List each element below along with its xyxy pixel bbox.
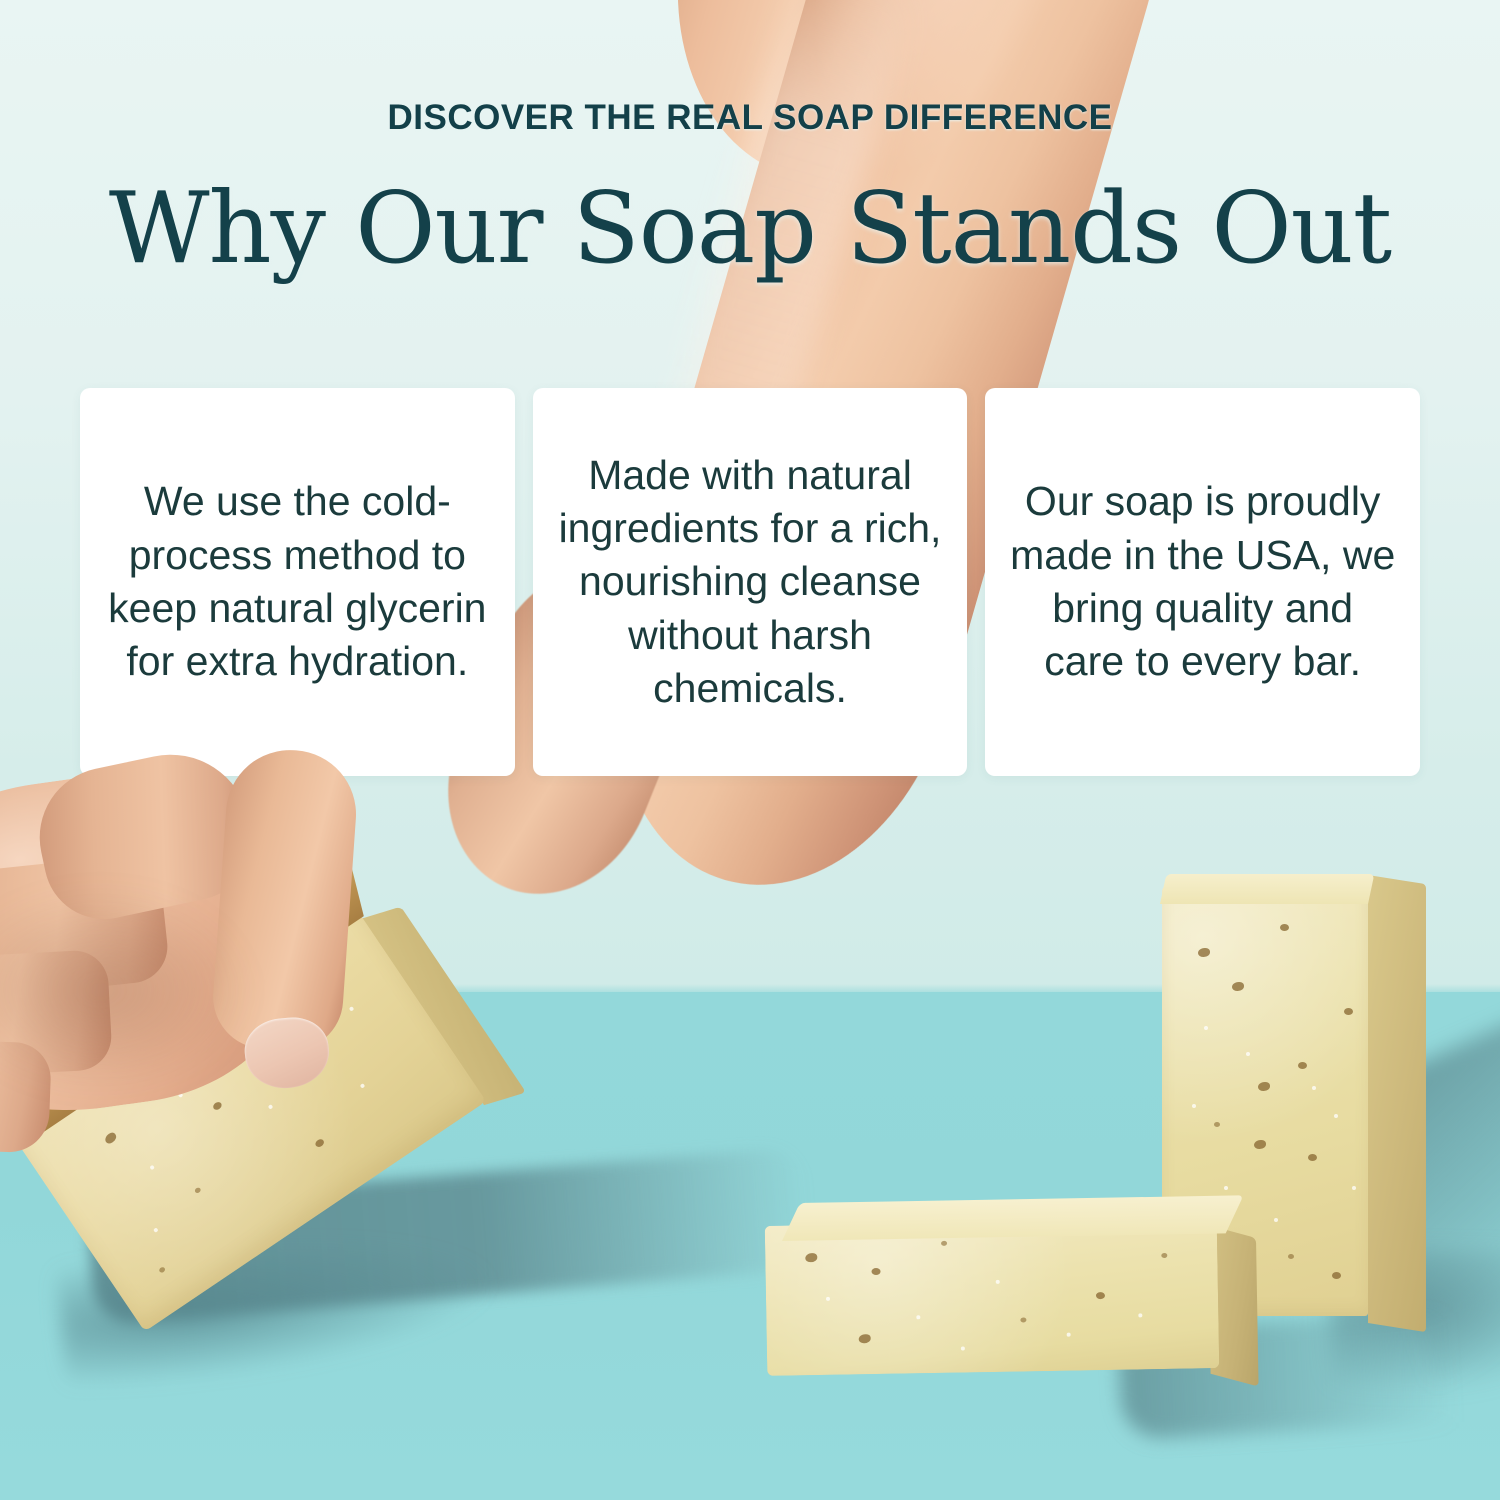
infographic-canvas: DISCOVER THE REAL SOAP DIFFERENCE Why Ou… <box>0 0 1500 1500</box>
benefit-card-group: We use the cold-process method to keep n… <box>80 388 1420 776</box>
benefit-card-3-text: Our soap is proudly made in the USA, we … <box>1009 475 1396 688</box>
benefit-card-3: Our soap is proudly made in the USA, we … <box>985 388 1420 776</box>
benefit-card-1: We use the cold-process method to keep n… <box>80 388 515 776</box>
soap-bar-lying <box>765 1218 1220 1376</box>
soap-bar-standing-top-face <box>1160 874 1374 904</box>
hand-photo <box>0 770 510 1330</box>
benefit-card-2: Made with natural ingredients for a rich… <box>533 388 968 776</box>
kicker-eyebrow-text: DISCOVER THE REAL SOAP DIFFERENCE <box>0 98 1500 138</box>
benefit-card-1-text: We use the cold-process method to keep n… <box>104 475 491 688</box>
hand-shading <box>0 890 250 1090</box>
benefit-card-2-text: Made with natural ingredients for a rich… <box>557 449 944 715</box>
soap-bar-standing-side-face <box>1368 875 1426 1332</box>
page-title: Why Our Soap Stands Out <box>0 178 1500 281</box>
soap-bar-lying-top-face <box>782 1195 1244 1241</box>
